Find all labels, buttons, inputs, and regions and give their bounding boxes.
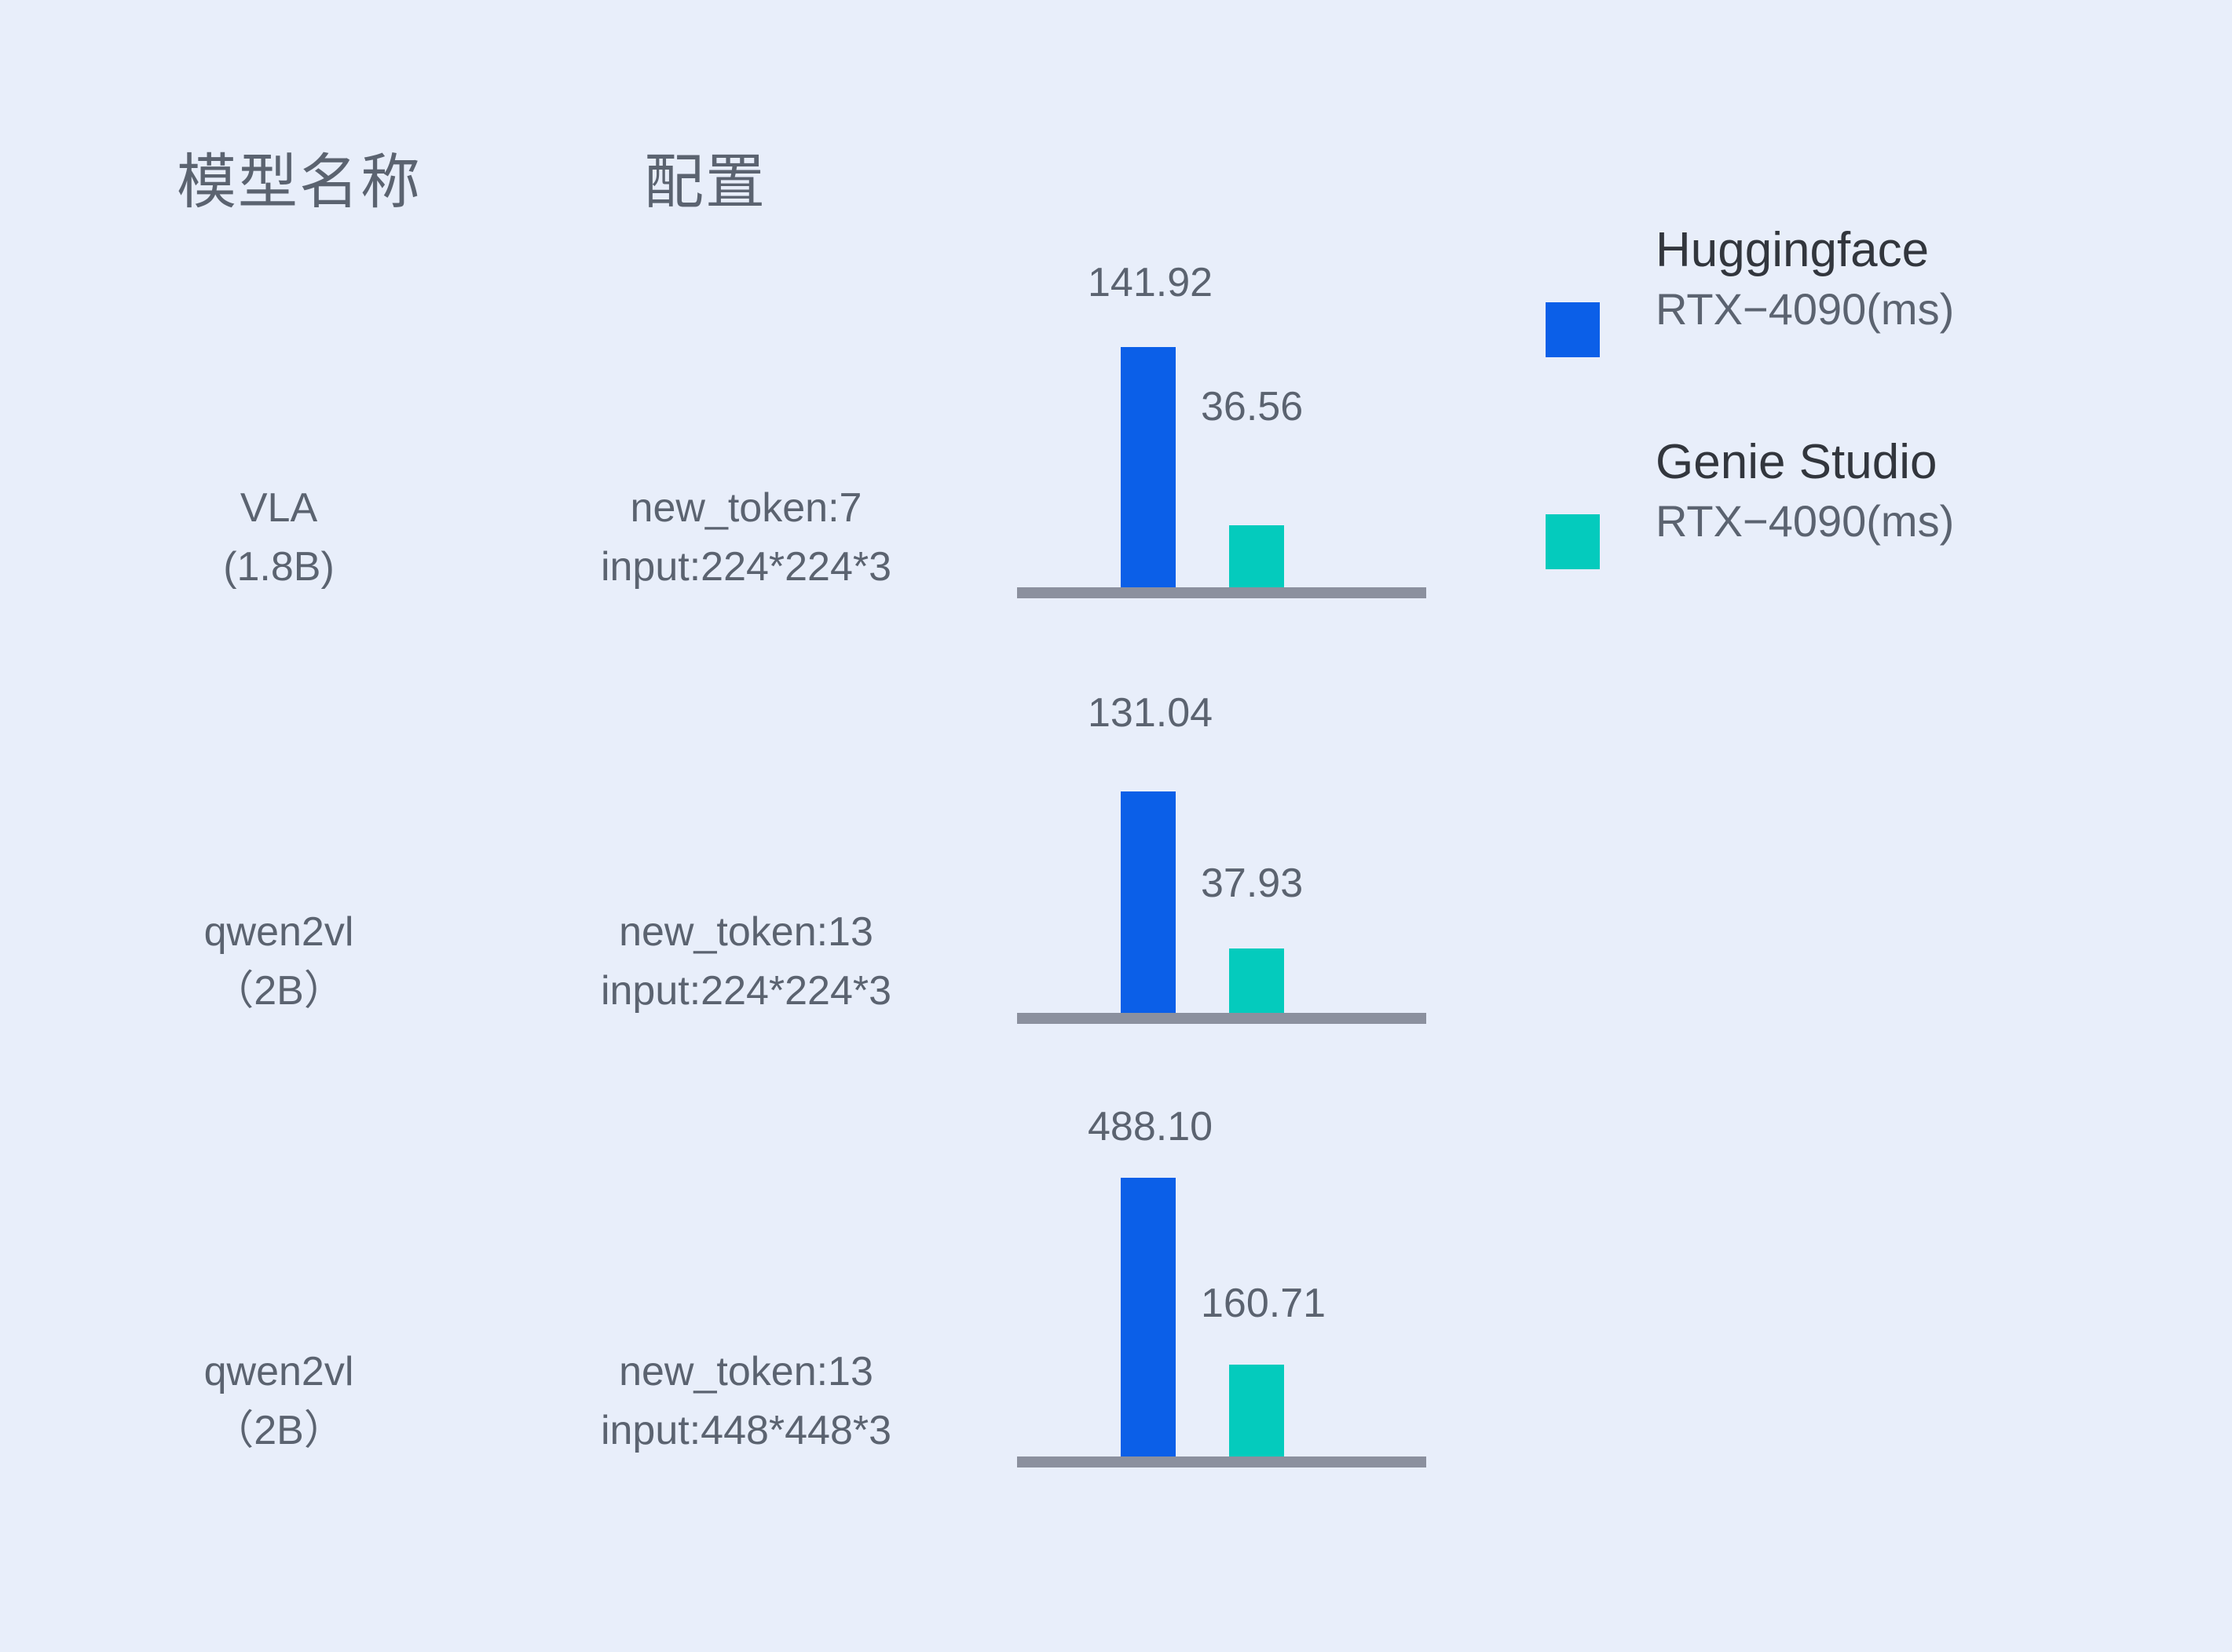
- chart-canvas: 模型名称 配置 VLA (1.8B) new_token:7 input:224…: [0, 0, 2232, 1652]
- column-header-model-name: 模型名称: [177, 133, 422, 220]
- row-config-label: new_token:13 input:448*448*3: [471, 1343, 1021, 1461]
- bar-value-huggingface: 488.10: [1088, 1103, 1213, 1150]
- legend-item-huggingface[interactable]: Huggingface RTX−4090(ms): [1546, 236, 2095, 448]
- row-model-name: qwen2vl: [110, 903, 448, 962]
- row-model-label: qwen2vl （2B）: [110, 903, 448, 1022]
- legend-item-genie-studio[interactable]: Genie Studio RTX−4090(ms): [1546, 448, 2095, 660]
- legend-swatch-teal-icon: [1546, 514, 1600, 569]
- legend-subtitle: RTX−4090(ms): [1656, 281, 2080, 338]
- row-config-input: input:224*224*3: [471, 538, 1021, 597]
- row-config-label: new_token:7 input:224*224*3: [471, 479, 1021, 598]
- row-model-name: qwen2vl: [110, 1343, 448, 1402]
- axis-baseline: [1017, 1456, 1426, 1467]
- row-model-name: VLA: [110, 479, 448, 538]
- row-model-size: （2B）: [110, 962, 448, 1021]
- row-model-label: VLA (1.8B): [110, 479, 448, 598]
- legend-label-group: Genie Studio RTX−4090(ms): [1656, 432, 2080, 550]
- legend-swatch-blue-icon: [1546, 302, 1600, 357]
- bar-huggingface[interactable]: [1121, 1178, 1176, 1463]
- row-config-label: new_token:13 input:224*224*3: [471, 903, 1021, 1022]
- chart-panel-row-3: 488.10 160.71: [1017, 0, 1429, 1467]
- bar-value-genie-studio: 160.71: [1201, 1280, 1326, 1327]
- column-header-config: 配置: [644, 133, 767, 220]
- row-model-label: qwen2vl （2B）: [110, 1343, 448, 1461]
- bar-genie-studio[interactable]: [1229, 1365, 1284, 1456]
- legend-label-group: Huggingface RTX−4090(ms): [1656, 220, 2080, 338]
- chart-legend: Huggingface RTX−4090(ms) Genie Studio RT…: [1546, 236, 2095, 660]
- row-config-tokens: new_token:13: [471, 1343, 1021, 1402]
- legend-subtitle: RTX−4090(ms): [1656, 493, 2080, 550]
- row-config-tokens: new_token:13: [471, 903, 1021, 962]
- row-model-size: （2B）: [110, 1402, 448, 1460]
- row-config-tokens: new_token:7: [471, 479, 1021, 538]
- legend-title: Genie Studio: [1656, 432, 2080, 493]
- row-config-input: input:448*448*3: [471, 1402, 1021, 1460]
- row-config-input: input:224*224*3: [471, 962, 1021, 1021]
- row-model-size: (1.8B): [110, 538, 448, 597]
- legend-title: Huggingface: [1656, 220, 2080, 281]
